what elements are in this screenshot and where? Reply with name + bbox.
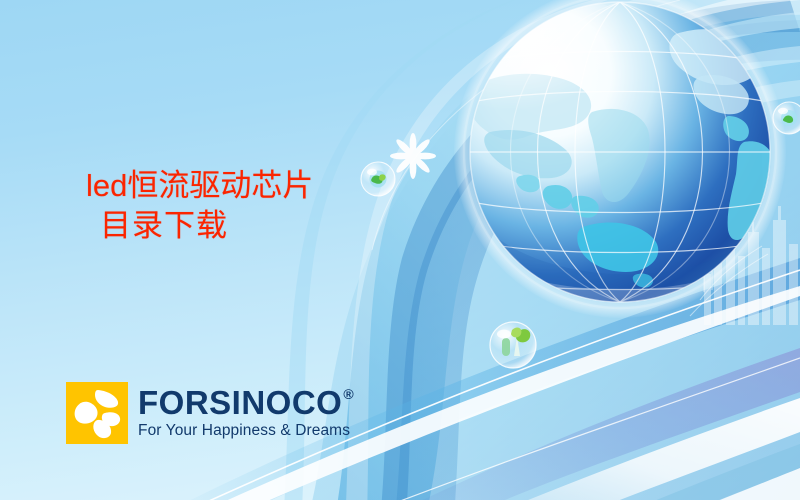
- four-petal-pinwheel-icon: [66, 382, 128, 444]
- bubble-with-tree-icon: [490, 322, 536, 368]
- logo-text-block: FORSINOCO ® For Your Happiness & Dreams: [138, 386, 354, 439]
- logo-tagline: For Your Happiness & Dreams: [138, 422, 354, 439]
- logo-wordmark-text: FORSINOCO: [138, 386, 342, 419]
- marketing-banner: led恒流驱动芯片 目录下载 FORSINOCO ® For Your Happ…: [0, 0, 800, 500]
- headline-line-2: 目录下载: [86, 206, 416, 246]
- logo-wordmark-row: FORSINOCO ®: [138, 386, 354, 419]
- company-logo: FORSINOCO ® For Your Happiness & Dreams: [66, 382, 354, 444]
- bubble-with-globe-right-icon: [773, 102, 800, 134]
- registered-trademark-icon: ®: [343, 387, 354, 401]
- headline-line-1: led恒流驱动芯片: [86, 166, 416, 206]
- headline-block: led恒流驱动芯片 目录下载: [86, 166, 416, 247]
